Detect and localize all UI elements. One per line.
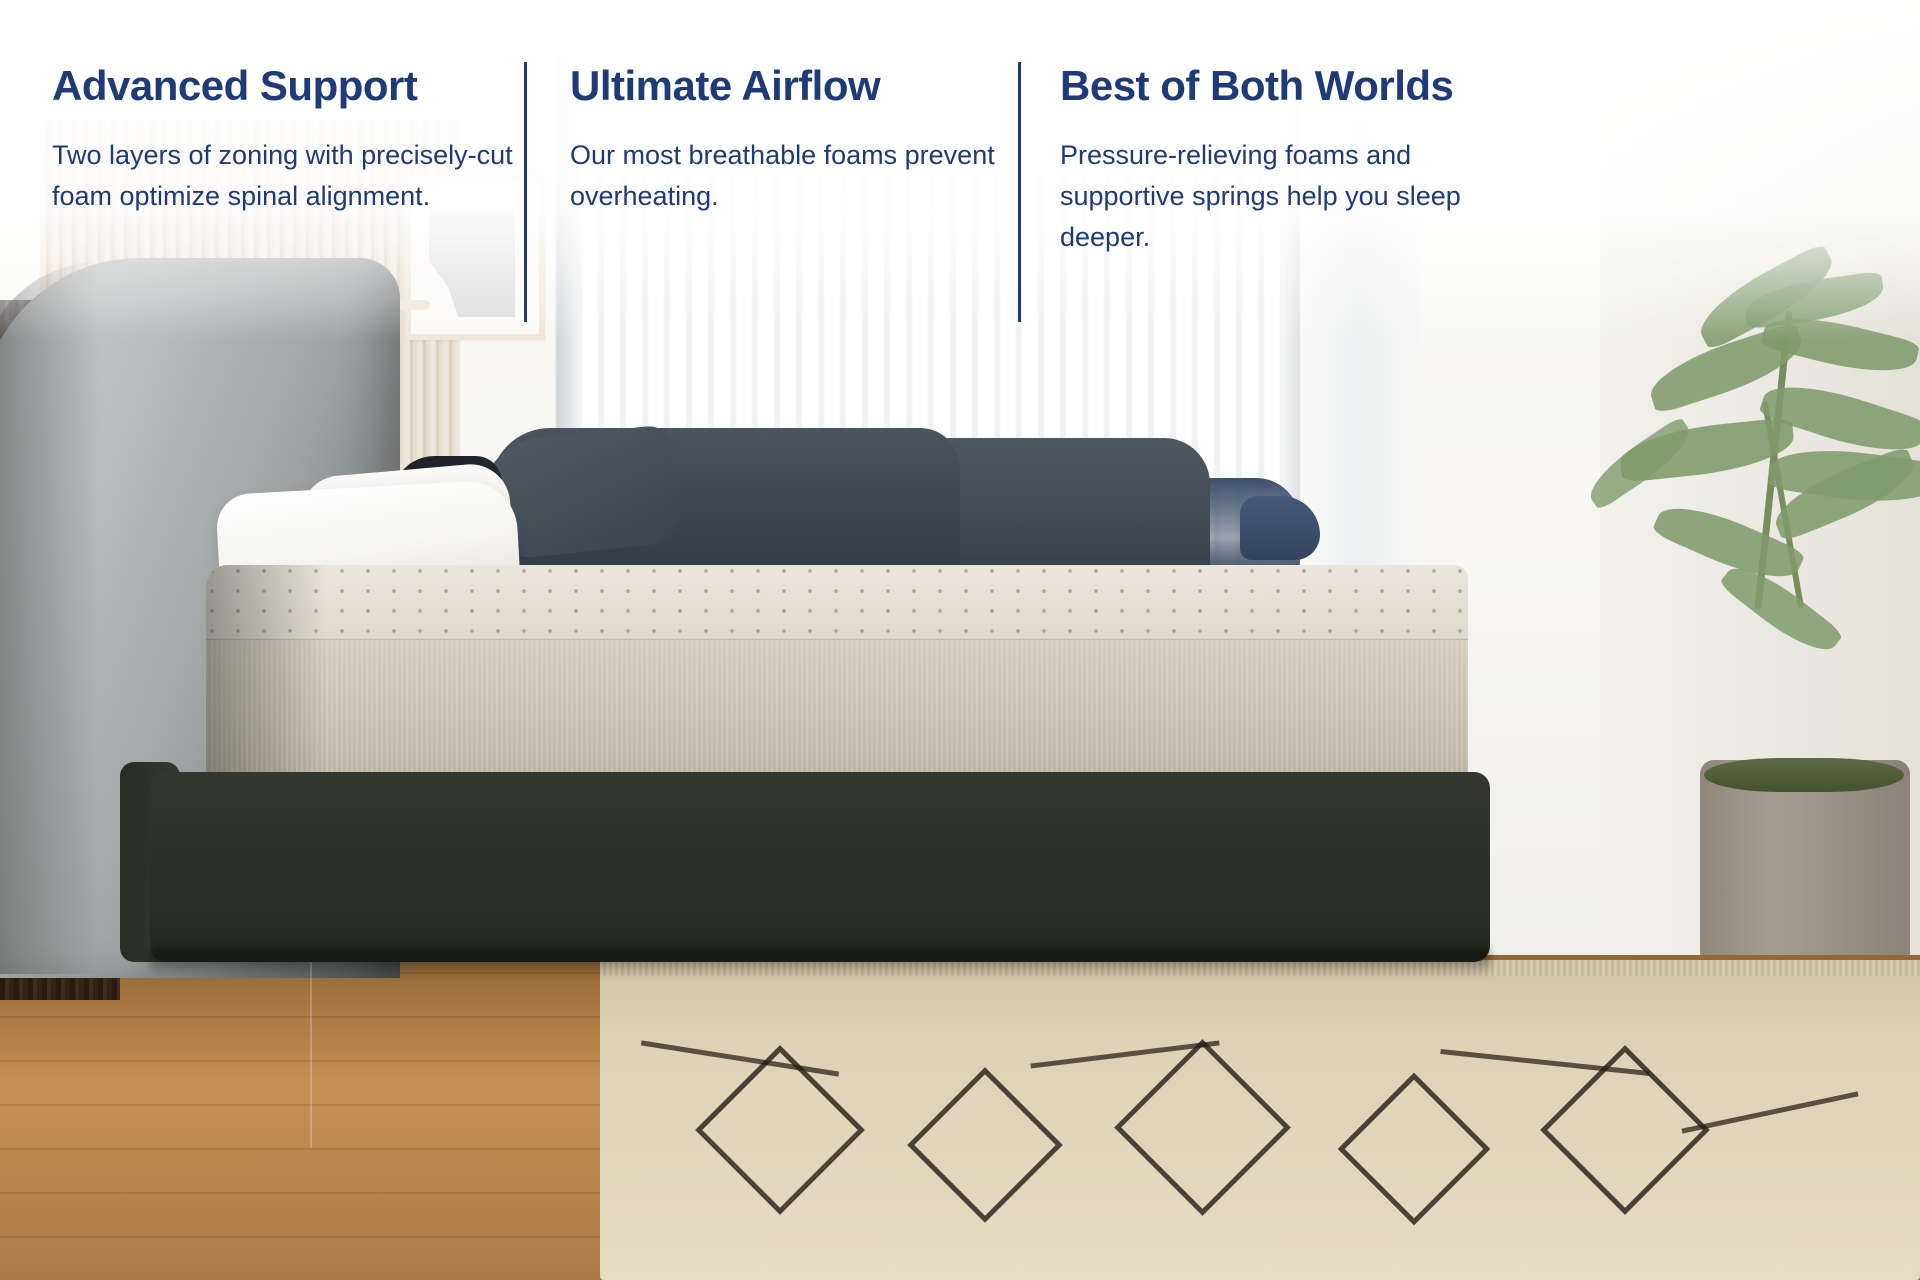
column-divider-1 <box>524 62 527 322</box>
rug-pattern <box>600 960 1920 1280</box>
feature-title: Advanced Support <box>52 62 522 109</box>
bed-base-shadow <box>150 950 1490 976</box>
mattress <box>206 565 1468 780</box>
mattress-side-panel <box>206 640 1468 780</box>
feature-column-advanced-support: Advanced Support Two layers of zoning wi… <box>52 62 522 217</box>
feature-body: Pressure-relieving foams and supportive … <box>1060 135 1540 258</box>
feature-columns: Advanced Support Two layers of zoning wi… <box>0 0 1920 340</box>
plant-soil <box>1704 758 1904 792</box>
mattress-shadow <box>206 565 326 780</box>
feature-body: Two layers of zoning with precisely-cut … <box>52 135 522 217</box>
feature-column-best-of-both-worlds: Best of Both Worlds Pressure-relieving f… <box>1060 62 1540 258</box>
bed-base <box>150 772 1490 962</box>
headboard-shadow-edge <box>0 262 100 974</box>
feature-body: Our most breathable foams prevent overhe… <box>570 135 1010 217</box>
shag-rug <box>600 960 1920 1280</box>
column-divider-2 <box>1018 62 1021 322</box>
feature-title: Ultimate Airflow <box>570 62 1010 109</box>
feature-title: Best of Both Worlds <box>1060 62 1540 109</box>
mattress-quilted-top <box>206 565 1468 637</box>
feature-banner: Advanced Support Two layers of zoning wi… <box>0 0 1920 1280</box>
feature-column-ultimate-airflow: Ultimate Airflow Our most breathable foa… <box>570 62 1010 217</box>
